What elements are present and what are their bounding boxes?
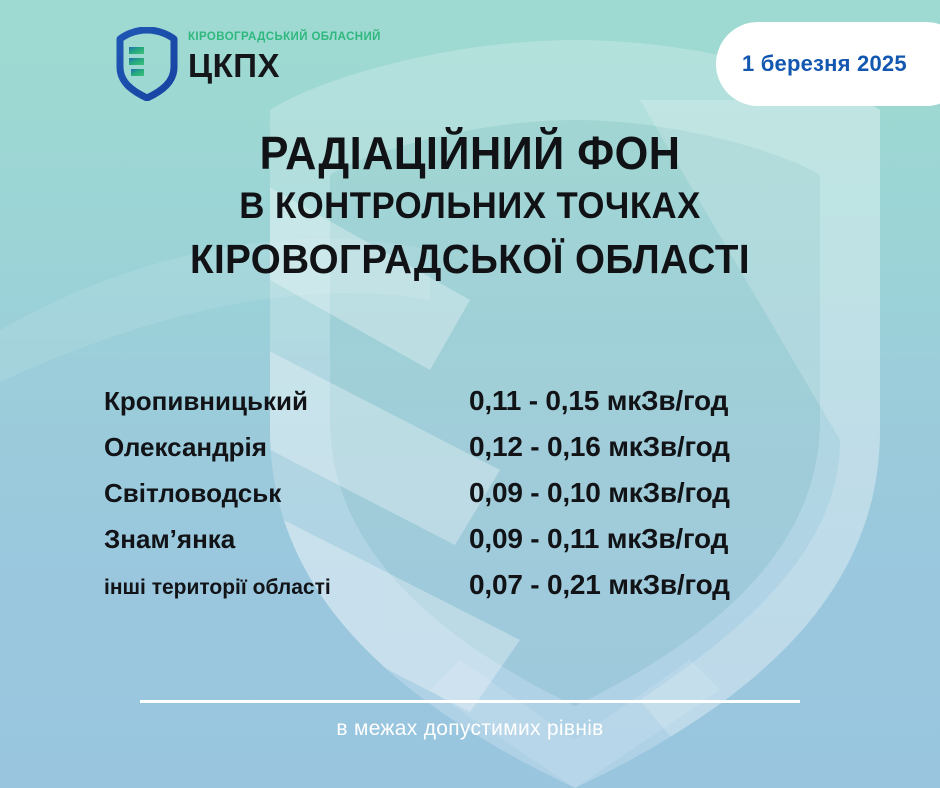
measurement-location: Світловодськ	[104, 478, 469, 509]
measurement-value: 0,11 - 0,15 мкЗв/год	[469, 385, 728, 417]
logo-wordmark: КІРОВОГРАДСЬКИЙ ОБЛАСНИЙ ЦКПХ	[188, 27, 381, 83]
measurement-value: 0,12 - 0,16 мкЗв/год	[469, 431, 730, 463]
date-badge: 1 березня 2025	[716, 22, 940, 106]
measurement-location: Олександрія	[104, 432, 469, 463]
measurement-value: 0,07 - 0,21 мкЗв/год	[469, 569, 730, 601]
radiation-background-infographic: КІРОВОГРАДСЬКИЙ ОБЛАСНИЙ ЦКПХ 1 березня …	[0, 0, 940, 788]
measurement-value: 0,09 - 0,11 мкЗв/год	[469, 523, 728, 555]
measurement-row: інші території області 0,07 - 0,21 мкЗв/…	[104, 569, 844, 615]
measurement-row: Знам’янка 0,09 - 0,11 мкЗв/год	[104, 523, 844, 569]
measurement-location: Знам’янка	[104, 524, 469, 555]
measurement-value: 0,09 - 0,10 мкЗв/год	[469, 477, 730, 509]
measurement-location: інші території області	[104, 576, 469, 600]
logo-org-name: КІРОВОГРАДСЬКИЙ ОБЛАСНИЙ	[188, 31, 381, 45]
page-title-line-2: В КОНТРОЛЬНИХ ТОЧКАХ	[28, 180, 912, 232]
logo-abbreviation: ЦКПХ	[188, 49, 381, 83]
footer-divider	[140, 700, 800, 703]
footer: в межах допустимих рівнів	[140, 700, 800, 741]
shield-icon	[116, 27, 178, 101]
measurements-list: Кропивницький 0,11 - 0,15 мкЗв/год Олекс…	[104, 385, 844, 615]
measurement-location: Кропивницький	[104, 386, 469, 417]
measurement-row: Кропивницький 0,11 - 0,15 мкЗв/год	[104, 385, 844, 431]
footer-note: в межах допустимих рівнів	[140, 717, 800, 741]
page-title: РАДІАЦІЙНИЙ ФОН В КОНТРОЛЬНИХ ТОЧКАХ КІР…	[0, 126, 940, 286]
measurement-row: Олександрія 0,12 - 0,16 мкЗв/год	[104, 431, 844, 477]
page-title-line-1: РАДІАЦІЙНИЙ ФОН	[28, 126, 912, 180]
page-title-line-3: КІРОВОГРАДСЬКОЇ ОБЛАСТІ	[28, 232, 912, 286]
date-badge-text: 1 березня 2025	[742, 51, 907, 77]
measurement-row: Світловодськ 0,09 - 0,10 мкЗв/год	[104, 477, 844, 523]
organisation-logo: КІРОВОГРАДСЬКИЙ ОБЛАСНИЙ ЦКПХ	[116, 27, 381, 101]
